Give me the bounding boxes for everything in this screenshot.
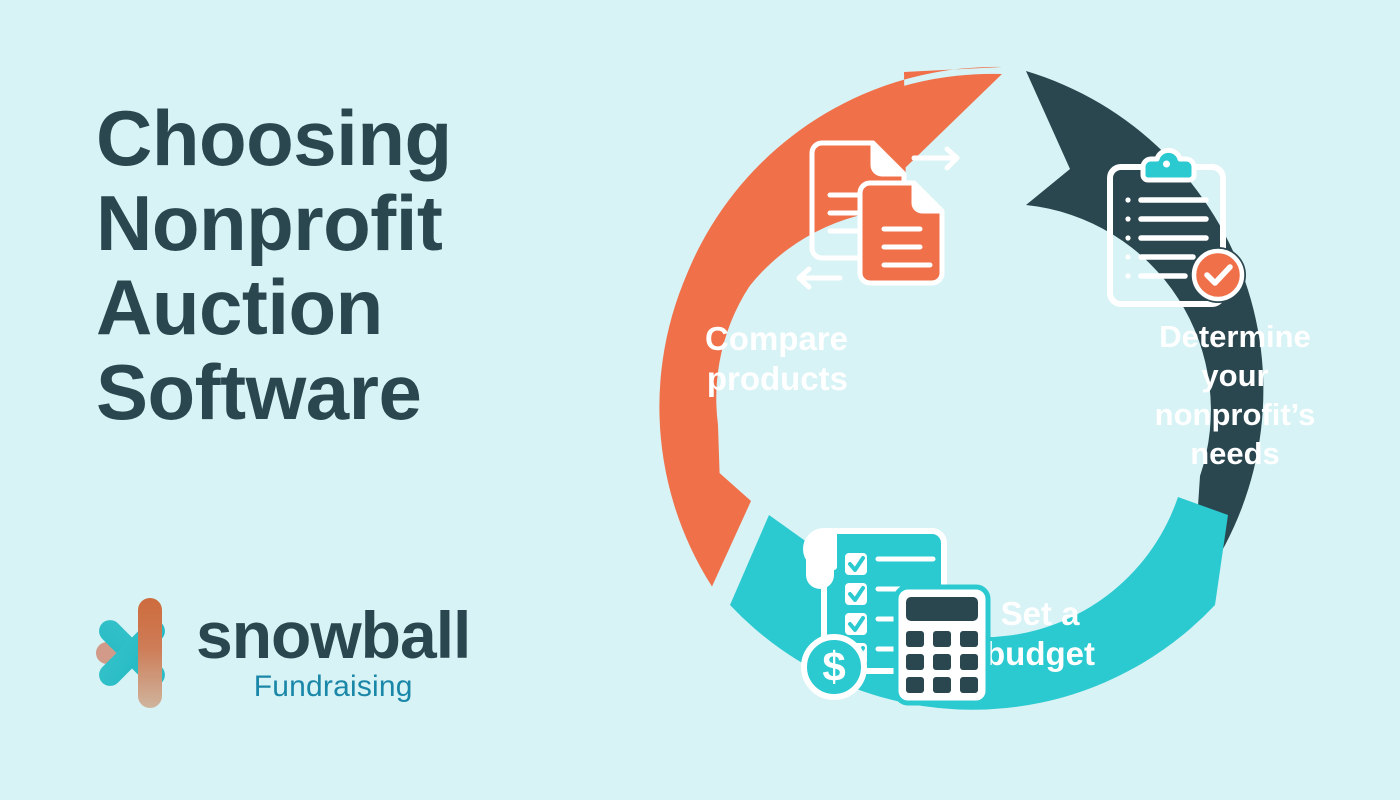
label-determine-needs-line-4: needs: [1190, 436, 1280, 471]
label-determine-needs-line-1: Determine: [1159, 319, 1311, 354]
logo-tagline: Fundraising: [254, 670, 413, 703]
process-cycle-diagram: Compare products Determine your nonprofi…: [640, 45, 1370, 765]
snowball-logo: snowball Fundraising: [96, 592, 470, 714]
snowball-logo-text: snowball Fundraising: [196, 603, 470, 703]
snowball-logo-mark-icon: [96, 592, 182, 714]
label-set-a-budget-line-1: Set a: [1001, 595, 1081, 632]
left-panel: Choosing Nonprofit Auction Software: [96, 96, 616, 716]
infographic-canvas: Choosing Nonprofit Auction Software: [0, 0, 1400, 800]
budget-calculator-icon: $: [804, 531, 988, 703]
label-determine-needs-line-2: your: [1201, 358, 1268, 393]
label-compare-products-line-2: products: [707, 360, 848, 397]
label-set-a-budget-line-2: budget: [985, 635, 1095, 672]
svg-text:$: $: [822, 643, 845, 690]
label-determine-needs-line-3: nonprofit’s: [1155, 397, 1316, 432]
cycle-center-hole: [872, 270, 1132, 530]
page-title: Choosing Nonprofit Auction Software: [96, 96, 616, 435]
logo-wordmark: snowball: [196, 603, 470, 668]
label-compare-products-line-1: Compare: [705, 320, 848, 357]
cycle-svg: Compare products Determine your nonprofi…: [640, 45, 1370, 765]
